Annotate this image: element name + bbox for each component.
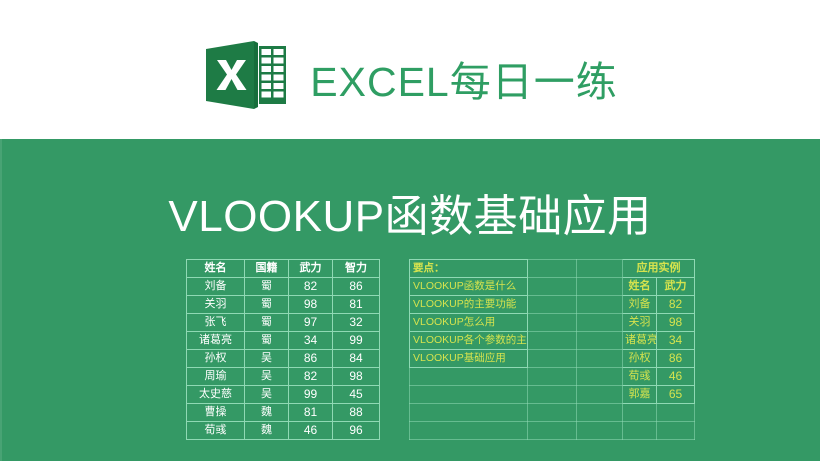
excel-logo-icon xyxy=(202,38,288,117)
right-table-title: 应用实例 xyxy=(623,260,695,278)
empty-cell xyxy=(528,350,577,368)
cell-nationality: 吴 xyxy=(245,368,289,386)
grid-spacer xyxy=(380,296,410,314)
cell-power: 82 xyxy=(289,368,333,386)
right-header-name: 姓名 xyxy=(623,278,657,296)
grid-spacer xyxy=(380,350,410,368)
content-panel: VLOOKUP函数基础应用 姓名 国籍 武力 智力 要点： xyxy=(0,139,820,461)
grid-spacer xyxy=(380,260,410,278)
right-cell-name: 刘备 xyxy=(623,296,657,314)
right-cell-power: 34 xyxy=(657,332,695,350)
cell-name: 周瑜 xyxy=(187,368,245,386)
cell-name: 荀彧 xyxy=(187,422,245,440)
right-cell-name: 孙权 xyxy=(623,350,657,368)
empty-cell xyxy=(577,350,623,368)
cell-power: 81 xyxy=(289,404,333,422)
table-row: 刘备 蜀 82 86 VLOOKUP函数是什么 姓名 武力 xyxy=(187,278,695,296)
cell-name: 孙权 xyxy=(187,350,245,368)
empty-cell xyxy=(577,404,623,422)
cell-nationality: 蜀 xyxy=(245,332,289,350)
grid-spacer xyxy=(380,386,410,404)
empty-cell xyxy=(410,422,528,440)
cell-name: 诸葛亮 xyxy=(187,332,245,350)
table-row: 荀彧 魏 46 96 xyxy=(187,422,695,440)
table-row: 诸葛亮 蜀 34 99 VLOOKUP各个参数的主要含义 诸葛亮 34 xyxy=(187,332,695,350)
cell-name: 刘备 xyxy=(187,278,245,296)
note-item: VLOOKUP函数是什么 xyxy=(410,278,528,296)
cell-intellect: 32 xyxy=(333,314,380,332)
empty-cell xyxy=(410,386,528,404)
cell-power: 99 xyxy=(289,386,333,404)
empty-cell xyxy=(577,296,623,314)
page-header: EXCEL每日一练 xyxy=(0,0,820,139)
empty-cell xyxy=(528,314,577,332)
left-header-nationality: 国籍 xyxy=(245,260,289,278)
cell-intellect: 84 xyxy=(333,350,380,368)
cell-name: 曹操 xyxy=(187,404,245,422)
cell-power: 86 xyxy=(289,350,333,368)
empty-cell xyxy=(528,332,577,350)
right-cell-name: 关羽 xyxy=(623,314,657,332)
cell-intellect: 86 xyxy=(333,278,380,296)
spreadsheet-grid: 姓名 国籍 武力 智力 要点： 应用实例 刘备 蜀 82 86 VLOOKUP函… xyxy=(186,259,695,440)
empty-cell xyxy=(528,422,577,440)
empty-cell xyxy=(623,404,657,422)
empty-cell xyxy=(577,422,623,440)
empty-cell xyxy=(528,260,577,278)
cell-intellect: 88 xyxy=(333,404,380,422)
grid-spacer xyxy=(380,332,410,350)
cell-nationality: 蜀 xyxy=(245,296,289,314)
right-cell-power: 46 xyxy=(657,368,695,386)
cell-name: 张飞 xyxy=(187,314,245,332)
cell-nationality: 吴 xyxy=(245,350,289,368)
table-row: 曹操 魏 81 88 xyxy=(187,404,695,422)
empty-cell xyxy=(577,332,623,350)
cell-name: 太史慈 xyxy=(187,386,245,404)
cell-power: 97 xyxy=(289,314,333,332)
note-item: VLOOKUP各个参数的主要含义 xyxy=(410,332,528,350)
table-row: 张飞 蜀 97 32 VLOOKUP怎么用 关羽 98 xyxy=(187,314,695,332)
cell-name: 关羽 xyxy=(187,296,245,314)
empty-cell xyxy=(577,314,623,332)
cell-power: 46 xyxy=(289,422,333,440)
empty-cell xyxy=(410,368,528,386)
grid-spacer xyxy=(380,278,410,296)
empty-cell xyxy=(577,368,623,386)
cell-intellect: 45 xyxy=(333,386,380,404)
cell-intellect: 81 xyxy=(333,296,380,314)
empty-cell xyxy=(577,260,623,278)
left-header-intellect: 智力 xyxy=(333,260,380,278)
cell-intellect: 96 xyxy=(333,422,380,440)
empty-cell xyxy=(577,386,623,404)
cell-intellect: 99 xyxy=(333,332,380,350)
cell-nationality: 蜀 xyxy=(245,278,289,296)
brand-lockup: EXCEL每日一练 xyxy=(202,38,617,117)
cell-power: 82 xyxy=(289,278,333,296)
empty-cell xyxy=(528,296,577,314)
note-item: VLOOKUP的主要功能 xyxy=(410,296,528,314)
table-row: 太史慈 吴 99 45 郭嘉 65 xyxy=(187,386,695,404)
empty-cell xyxy=(410,404,528,422)
empty-cell xyxy=(657,422,695,440)
empty-cell xyxy=(528,404,577,422)
table-row: 姓名 国籍 武力 智力 要点： 应用实例 xyxy=(187,260,695,278)
brand-title: EXCEL每日一练 xyxy=(310,48,617,108)
left-header-name: 姓名 xyxy=(187,260,245,278)
empty-cell xyxy=(577,278,623,296)
cell-power: 98 xyxy=(289,296,333,314)
right-cell-power: 98 xyxy=(657,314,695,332)
table-row: 孙权 吴 86 84 VLOOKUP基础应用 孙权 86 xyxy=(187,350,695,368)
empty-cell xyxy=(528,278,577,296)
empty-cell xyxy=(657,404,695,422)
right-cell-name: 荀彧 xyxy=(623,368,657,386)
note-item: VLOOKUP怎么用 xyxy=(410,314,528,332)
cell-power: 34 xyxy=(289,332,333,350)
note-item: VLOOKUP基础应用 xyxy=(410,350,528,368)
grid-spacer xyxy=(380,404,410,422)
cell-nationality: 吴 xyxy=(245,386,289,404)
notes-heading: 要点： xyxy=(410,260,528,278)
right-header-power: 武力 xyxy=(657,278,695,296)
empty-cell xyxy=(528,368,577,386)
table-row: 周瑜 吴 82 98 荀彧 46 xyxy=(187,368,695,386)
grid-spacer xyxy=(380,368,410,386)
right-cell-name: 郭嘉 xyxy=(623,386,657,404)
cell-nationality: 魏 xyxy=(245,404,289,422)
right-cell-power: 65 xyxy=(657,386,695,404)
page-title: VLOOKUP函数基础应用 xyxy=(0,180,820,244)
right-cell-name: 诸葛亮 xyxy=(623,332,657,350)
table-row: 关羽 蜀 98 81 VLOOKUP的主要功能 刘备 82 xyxy=(187,296,695,314)
cell-nationality: 魏 xyxy=(245,422,289,440)
right-cell-power: 86 xyxy=(657,350,695,368)
right-cell-power: 82 xyxy=(657,296,695,314)
empty-cell xyxy=(623,422,657,440)
empty-cell xyxy=(528,386,577,404)
grid-spacer xyxy=(380,422,410,440)
cell-intellect: 98 xyxy=(333,368,380,386)
left-header-power: 武力 xyxy=(289,260,333,278)
cell-nationality: 蜀 xyxy=(245,314,289,332)
grid-spacer xyxy=(380,314,410,332)
